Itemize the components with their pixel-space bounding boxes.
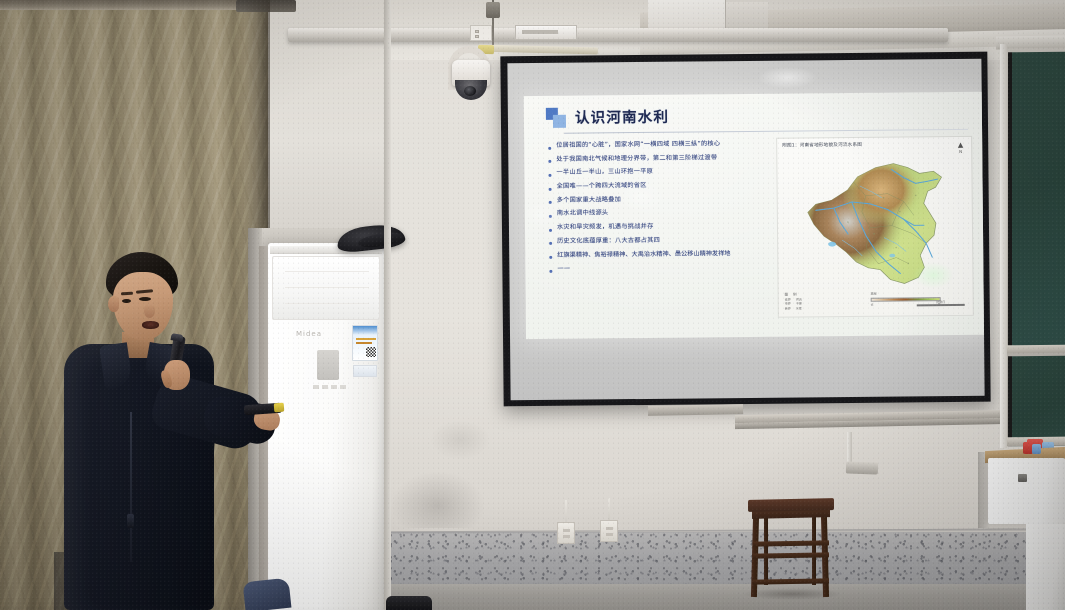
ac-button[interactable] — [313, 385, 319, 389]
lecturer-ear — [108, 296, 119, 312]
stool-rail — [753, 578, 829, 584]
map-panel: 附图1：河南省地形地貌及河流水系图 ▲ N — [776, 136, 974, 318]
presentation-pointer-tip — [274, 403, 285, 413]
screen-reflection-tertiary — [523, 203, 557, 227]
ceiling-equipment-box-secondary — [726, 2, 768, 30]
ac-button[interactable] — [322, 385, 328, 389]
stool-seat[interactable] — [748, 498, 834, 512]
list-item: 位居祖国的“心脏”，国家水网“一横四域 四横三纵”的核心 — [548, 140, 776, 150]
map-scale-bar: 比例尺 — [917, 300, 965, 306]
bullet-text: 红旗渠精神、焦裕禄精神、大禹治水精神、愚公移山精神发祥地 — [557, 250, 730, 259]
ac-energy-label-sticker — [352, 325, 378, 361]
lecturer-jacket-zipper — [130, 412, 132, 562]
bullet-dot-icon — [549, 256, 552, 259]
wall-socket-right[interactable] — [600, 520, 618, 542]
blackboard-lower-panel[interactable] — [1008, 356, 1065, 447]
bullet-dot-icon — [548, 174, 551, 177]
wooden-stool[interactable] — [748, 499, 834, 595]
list-item: 水灾和旱灾频发，机遇与挑战并存 — [549, 222, 777, 232]
bullet-text: 一半山丘一半山，三山环抱一平原 — [556, 168, 653, 176]
stool-rail — [753, 552, 829, 558]
blackboard-chalk-tray-upper — [1006, 345, 1065, 354]
ac-button[interactable] — [340, 385, 346, 389]
projection-screen-surface: 认识河南水利 位居祖国的“心脏”，国家水网“一横四域 四横三纵”的核心 处于我国… — [507, 59, 984, 401]
wall-plate — [470, 25, 492, 41]
wall-smudge — [392, 472, 484, 528]
map-caption: 附图1：河南省地形地貌及河流水系图 — [782, 142, 862, 149]
list-item: 历史文化底蕴厚重：八大古都占其四 — [549, 236, 777, 246]
lecturer-zipper-pull — [127, 514, 134, 528]
legend-entry: 水库 — [796, 306, 802, 311]
foreground-object-dark — [386, 596, 432, 610]
bullet-dot-icon — [549, 228, 552, 231]
blackboard-left-frame — [1000, 44, 1007, 448]
camera-lens-icon — [464, 86, 476, 96]
ac-button-group[interactable] — [313, 385, 347, 389]
list-item: 处于我国南北气候和地理分界带，第二和第三阶梯过渡带 — [548, 153, 776, 163]
slide-title-divider — [564, 129, 968, 134]
legend-entry: 干渠 — [796, 301, 802, 306]
two-blue-squares-icon — [546, 107, 566, 127]
podium-items[interactable] — [1023, 440, 1041, 454]
ac-brand-label: Midea — [296, 330, 322, 338]
ac-louver-panel — [272, 256, 380, 320]
ac-display-screen — [317, 350, 339, 380]
screen-reflection-secondary — [619, 182, 665, 212]
podium-body[interactable] — [988, 458, 1065, 524]
qr-code-icon — [366, 347, 376, 357]
bullet-text: 南水北调中线源头 — [557, 210, 609, 218]
wall-corner-edge — [384, 0, 391, 610]
lecturer-nose — [144, 304, 155, 318]
elevation-legend-label: 高程 — [871, 292, 877, 296]
legend-entry: 县界 — [785, 306, 791, 311]
foreground-object-blue — [243, 578, 292, 610]
bullet-dot-icon — [549, 187, 552, 190]
projector-hotspot — [913, 262, 953, 288]
screen-reflection — [757, 66, 817, 89]
map-legend-column-right: 河流 干渠 水库 — [796, 297, 802, 311]
wall-plate-socket-bottom — [475, 35, 479, 38]
ac-button[interactable] — [331, 385, 337, 389]
map-legend: 图 例 省界 市界 县界 河流 干渠 水库 — [785, 290, 865, 310]
wall-plate-socket-top — [475, 30, 479, 33]
projection-screen[interactable]: 认识河南水利 位居祖国的“心脏”，国家水网“一横四域 四横三纵”的核心 处于我国… — [500, 52, 990, 407]
bullet-dot-icon — [549, 242, 552, 245]
list-item: 一半山丘一半山，三山环抱一平原 — [548, 167, 776, 177]
lecturer — [58, 252, 282, 610]
north-arrow-icon: ▲ N — [958, 142, 964, 154]
lecturer-eye — [122, 299, 131, 303]
bullet-dot-icon — [548, 160, 551, 163]
blackboard-upper-panel[interactable] — [1008, 52, 1065, 353]
stool-leg — [764, 515, 768, 585]
lecturer-eye — [139, 297, 151, 301]
north-arrow-label: N — [958, 149, 963, 154]
bullet-text: 历史文化底蕴厚重：八大古都占其四 — [557, 237, 660, 245]
bullet-text: 处于我国南北气候和地理分界带，第二和第三阶梯过渡带 — [556, 154, 717, 163]
lecturer-mouth — [142, 321, 159, 329]
ac-info-sticker — [353, 365, 377, 377]
map-legend-column-left: 省界 市界 县界 — [785, 297, 791, 311]
wall-socket-left[interactable] — [557, 522, 575, 544]
stool-rail — [753, 540, 829, 546]
podium-item-blue[interactable] — [1032, 444, 1041, 454]
presentation-slide[interactable]: 认识河南水利 位居祖国的“心脏”，国家水网“一横四域 四横三纵”的核心 处于我国… — [524, 92, 985, 339]
bullet-dot-icon — [548, 146, 551, 149]
wall-bracket-head — [846, 461, 878, 474]
curtain-rail — [0, 0, 268, 10]
lecturer-face — [113, 272, 173, 340]
podium-lock-icon[interactable] — [1018, 474, 1027, 482]
bullet-text: 水灾和旱灾频发，机遇与挑战并存 — [557, 223, 654, 231]
podium-lower-cabinet — [1026, 524, 1065, 610]
bullet-text: —— — [557, 265, 570, 272]
bullet-dot-icon — [549, 270, 552, 273]
map-legend-title: 图 例 — [785, 290, 865, 296]
map-scale-bar-graphic — [917, 304, 965, 306]
stool-leg — [812, 515, 816, 585]
bullet-text: 多个国家重大战略叠加 — [557, 196, 621, 204]
lecturer-eyebrow — [121, 292, 133, 296]
bullet-text: 位居祖国的“心脏”，国家水网“一横四域 四横三纵”的核心 — [556, 140, 720, 149]
classroom-scene: 认识河南水利 位居祖国的“心脏”，国家水网“一横四域 四横三纵”的核心 处于我国… — [0, 0, 1065, 610]
ceiling-hanger-clip — [486, 2, 500, 18]
slide-title-row: 认识河南水利 — [546, 106, 669, 128]
screen-bottom-rail — [648, 404, 743, 416]
slide-title: 认识河南水利 — [575, 106, 669, 128]
list-item: 红旗渠精神、焦裕禄精神、大禹治水精神、愚公移山精神发祥地 — [549, 249, 777, 259]
wall-smudge-secondary — [430, 420, 490, 460]
elevation-tick-low: 低 — [871, 303, 874, 307]
wall-control-slot — [522, 30, 558, 34]
legend-entry: 市界 — [785, 302, 791, 307]
list-item: —— — [549, 263, 777, 273]
